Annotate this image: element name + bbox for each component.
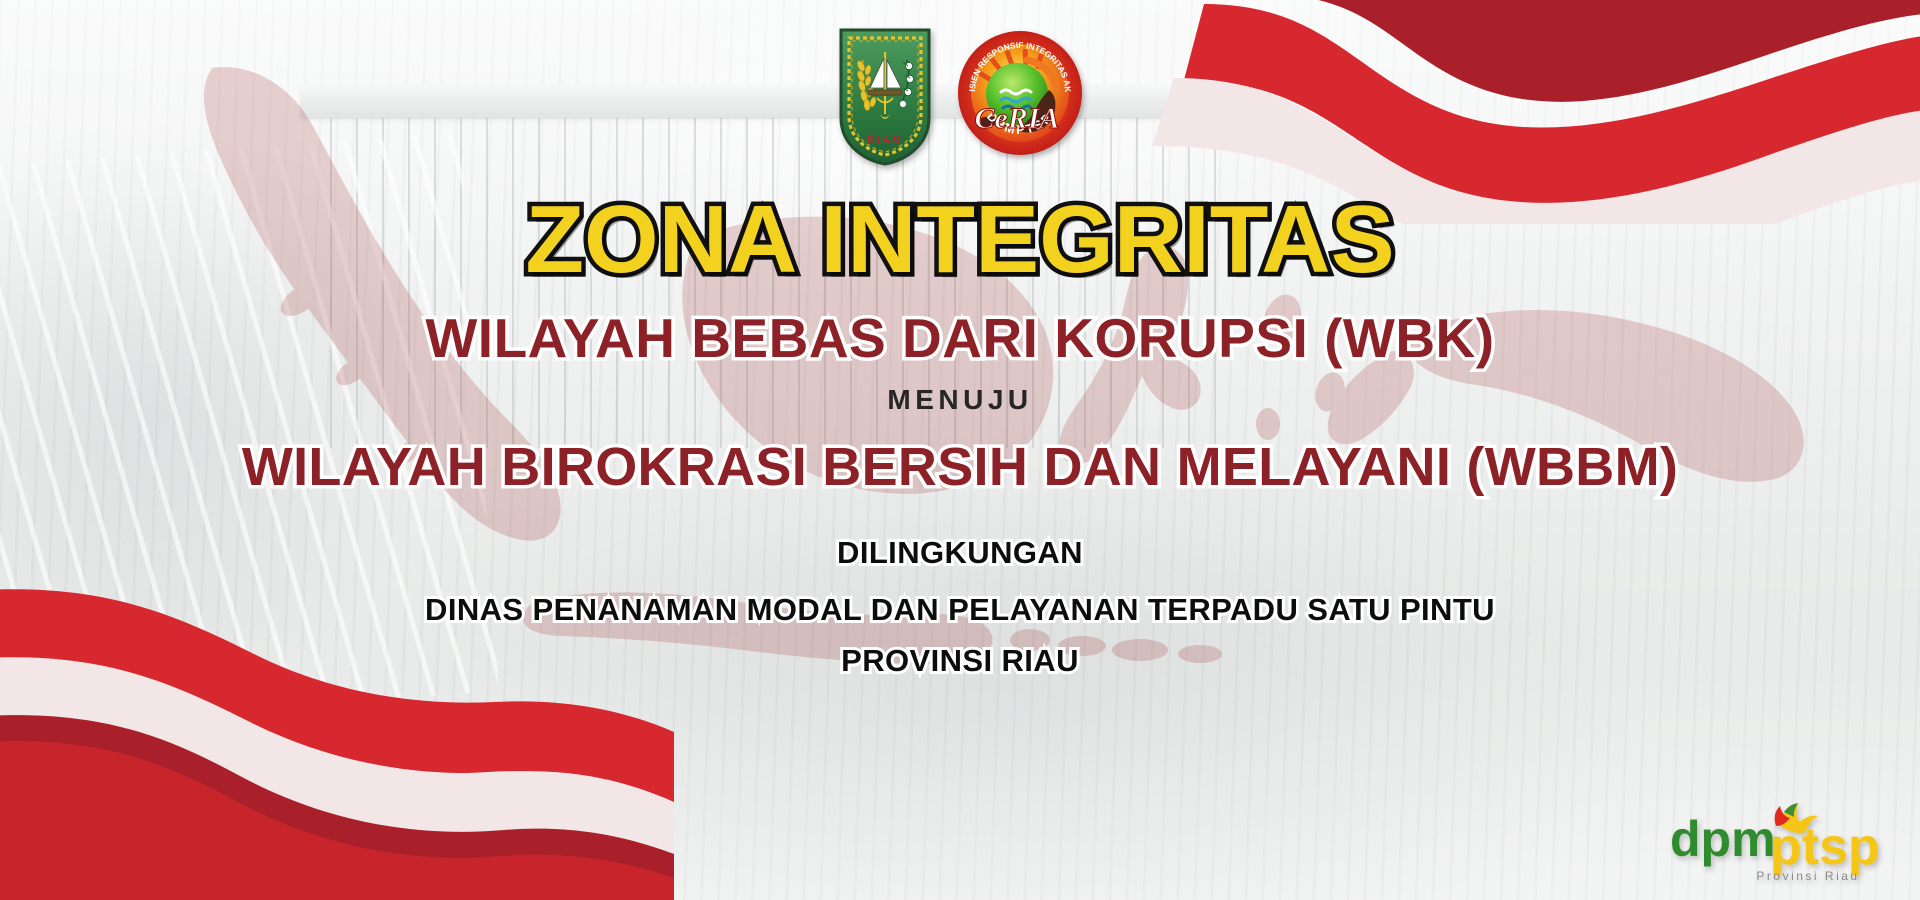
banner-text-stack: ZONA INTEGRITAS WILAYAH BEBAS DARI KORUP…	[0, 0, 1920, 900]
dpmptsp-tagline: Provinsi Riau	[1756, 869, 1859, 883]
connector-label: MENUJU	[0, 384, 1920, 416]
footer-block: DILINGKUNGAN DINAS PENANAMAN MODAL DAN P…	[0, 534, 1920, 680]
subtitle-wbbm: WILAYAH BIROKRASI BERSIH DAN MELAYANI (W…	[0, 436, 1920, 498]
subtitle-wbk: WILAYAH BEBAS DARI KORUPSI (WBK)	[0, 308, 1920, 369]
zona-integritas-banner: RIAU	[0, 0, 1920, 900]
footer-line-3: PROVINSI RIAU	[0, 642, 1920, 679]
page-title: ZONA INTEGRITAS	[0, 190, 1920, 291]
footer-line-1: DILINGKUNGAN	[0, 534, 1920, 571]
ptsp-wordmark: ptsp	[1770, 818, 1880, 876]
footer-line-2: DINAS PENANAMAN MODAL DAN PELAYANAN TERP…	[0, 591, 1920, 628]
dpmptsp-provinsi-riau-logo: dpm ptsp Provinsi Riau	[1658, 790, 1890, 886]
dpm-wordmark: dpm	[1670, 811, 1776, 867]
